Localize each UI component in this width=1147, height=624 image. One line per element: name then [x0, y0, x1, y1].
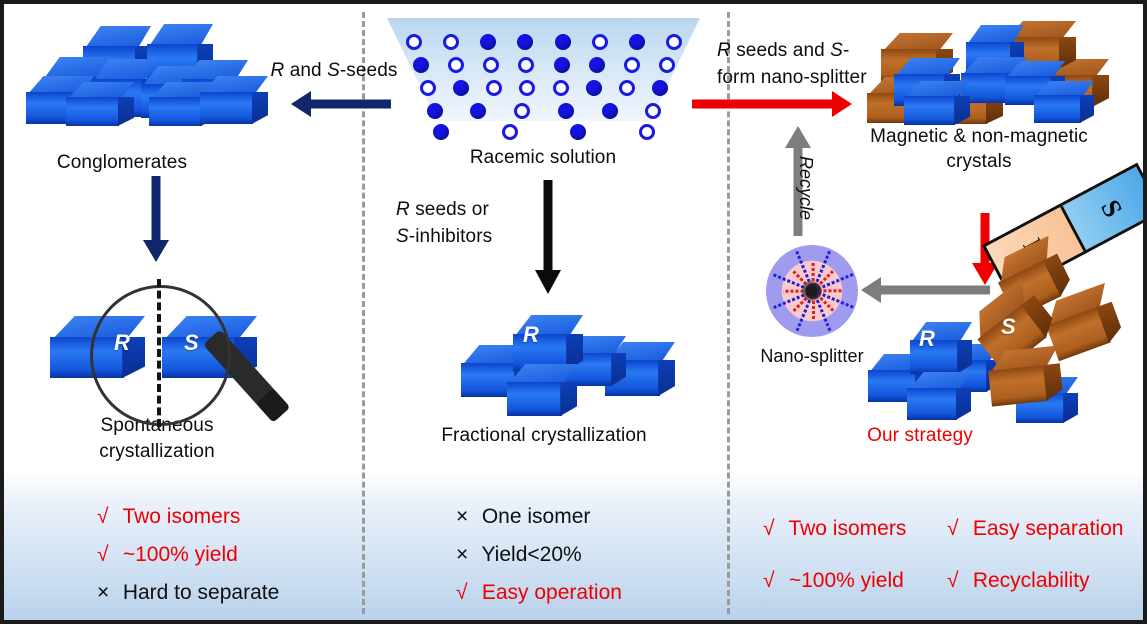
molecule-s-enantiomer [420, 80, 436, 96]
summary-list-right-col1: √ Two isomers√ ~100% yield [763, 503, 906, 607]
chirality-dashed-line [157, 279, 161, 427]
summary-item: √ ~100% yield [97, 536, 279, 574]
fractional-crystal-letter: R [523, 322, 539, 348]
check-icon: √ [763, 555, 783, 607]
summary-item-text: Easy separation [967, 517, 1123, 540]
summary-item-text: One isomer [476, 505, 590, 528]
magnet-south-label: S [1094, 194, 1128, 222]
summary-list-right-col2: √ Easy separation√ Recyclability [947, 503, 1123, 607]
molecule-s-enantiomer [553, 80, 569, 96]
crystal-block [907, 372, 971, 420]
crystal-block [66, 82, 134, 126]
racemic-solution-label: Racemic solution [470, 146, 616, 169]
magnetic-crystals-line1: Magnetic & non-magnetic [870, 126, 1088, 147]
summary-list-left: √ Two isomers√ ~100% yield× Hard to sepa… [97, 498, 279, 612]
molecule-s-enantiomer [514, 103, 530, 119]
fractional-arrow-label: R seeds orS-inhibitors [396, 196, 546, 250]
summary-item: × Yield<20% [456, 536, 622, 574]
molecule-r-enantiomer [555, 34, 571, 50]
summary-item: √ Two isomers [763, 503, 906, 555]
summary-item-text: Two isomers [117, 505, 240, 528]
magnetic-crystals-label: Magnetic & non-magnetic crystals [849, 124, 1109, 174]
summary-item: √ Two isomers [97, 498, 279, 536]
molecule-s-enantiomer [624, 57, 640, 73]
summary-item-text: Hard to separate [117, 581, 279, 604]
cross-icon: × [456, 498, 476, 536]
molecule-r-enantiomer [427, 103, 443, 119]
figure-frame: Conglomerates R and S-seeds R S Spontane… [0, 0, 1147, 624]
molecule-r-enantiomer [453, 80, 469, 96]
summary-list-middle: × One isomer× Yield<20%√ Easy operation [456, 498, 622, 612]
molecule-s-enantiomer [666, 34, 682, 50]
summary-item: √ Recyclability [947, 555, 1123, 607]
check-icon: √ [947, 503, 967, 555]
non-magnetic-crystal-block [1034, 81, 1094, 123]
nano-splitter-label: Nano-splitter [760, 345, 863, 368]
magnetic-crystal-block [986, 345, 1063, 406]
molecule-s-enantiomer [645, 103, 661, 119]
molecule-r-enantiomer [570, 124, 586, 140]
molecule-r-enantiomer [652, 80, 668, 96]
our-strategy-label: Our strategy [867, 424, 973, 447]
summary-item-text: Easy operation [476, 581, 622, 604]
molecule-r-enantiomer [589, 57, 605, 73]
molecule-s-enantiomer [406, 34, 422, 50]
recycle-label: Recycle [795, 156, 816, 220]
summary-item: × Hard to separate [97, 574, 279, 612]
magnetic-crystals-line2: crystals [946, 151, 1011, 172]
check-icon: √ [947, 555, 967, 607]
molecule-r-enantiomer [586, 80, 602, 96]
molecule-r-enantiomer [602, 103, 618, 119]
magnifier-letter-R: R [114, 330, 130, 356]
summary-item-text: Yield<20% [476, 543, 582, 566]
molecule-r-enantiomer [558, 103, 574, 119]
summary-item: √ Easy separation [947, 503, 1123, 555]
molecule-s-enantiomer [659, 57, 675, 73]
check-icon: √ [97, 536, 117, 574]
conglomerates-label: Conglomerates [57, 151, 187, 174]
nano-splitter-core [802, 281, 822, 301]
magnifier-letter-S: S [184, 330, 199, 356]
crystal-block [200, 76, 268, 124]
molecule-s-enantiomer [448, 57, 464, 73]
cross-icon: × [456, 536, 476, 574]
nano-splitter-particle [766, 245, 858, 337]
cross-icon: × [97, 574, 117, 612]
check-icon: √ [97, 498, 117, 536]
molecule-s-enantiomer [639, 124, 655, 140]
fractional-crystallization-label: Fractional crystallization [441, 424, 646, 447]
check-icon: √ [763, 503, 783, 555]
molecule-r-enantiomer [433, 124, 449, 140]
crystal-block [507, 364, 577, 416]
summary-item-text: ~100% yield [117, 543, 238, 566]
summary-item: √ Easy operation [456, 574, 622, 612]
non-magnetic-crystal-block [904, 81, 970, 125]
summary-item: √ ~100% yield [763, 555, 906, 607]
molecule-s-enantiomer [619, 80, 635, 96]
summary-item: × One isomer [456, 498, 622, 536]
strategy-crystal-letter-R: R [919, 326, 935, 352]
seeds-arrow-label: R and S-seeds [270, 59, 397, 82]
molecule-r-enantiomer [554, 57, 570, 73]
molecule-s-enantiomer [502, 124, 518, 140]
check-icon: √ [456, 574, 476, 612]
summary-item-text: ~100% yield [783, 569, 904, 592]
molecule-r-enantiomer [413, 57, 429, 73]
summary-item-text: Recyclability [967, 569, 1090, 592]
magnetic-crystal-letter-S: S [1001, 314, 1016, 340]
molecule-s-enantiomer [592, 34, 608, 50]
summary-item-text: Two isomers [783, 517, 906, 540]
molecule-r-enantiomer [629, 34, 645, 50]
spontaneous-label-line2: crystallization [99, 441, 215, 462]
